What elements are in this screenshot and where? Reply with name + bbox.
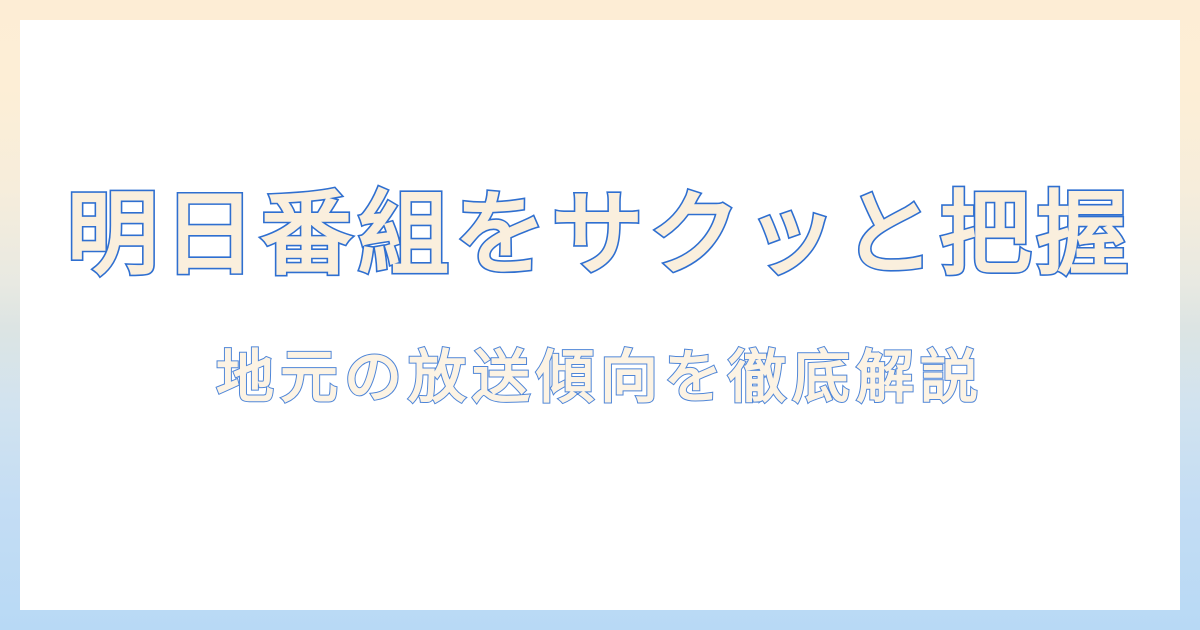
banner-stage: 明日番組をサクッと把握 地元の放送傾向を徹底解説 — [20, 20, 1180, 610]
headline-gap-spacer — [600, 286, 601, 344]
banner-subheadline: 地元の放送傾向を徹底解説 — [216, 344, 984, 411]
banner-text-block: 明日番組をサクッと把握 地元の放送傾向を徹底解説 — [20, 20, 1180, 610]
banner-headline: 明日番組をサクッと把握 — [66, 183, 1133, 286]
banner-frame: 明日番組をサクッと把握 地元の放送傾向を徹底解説 — [0, 0, 1200, 630]
